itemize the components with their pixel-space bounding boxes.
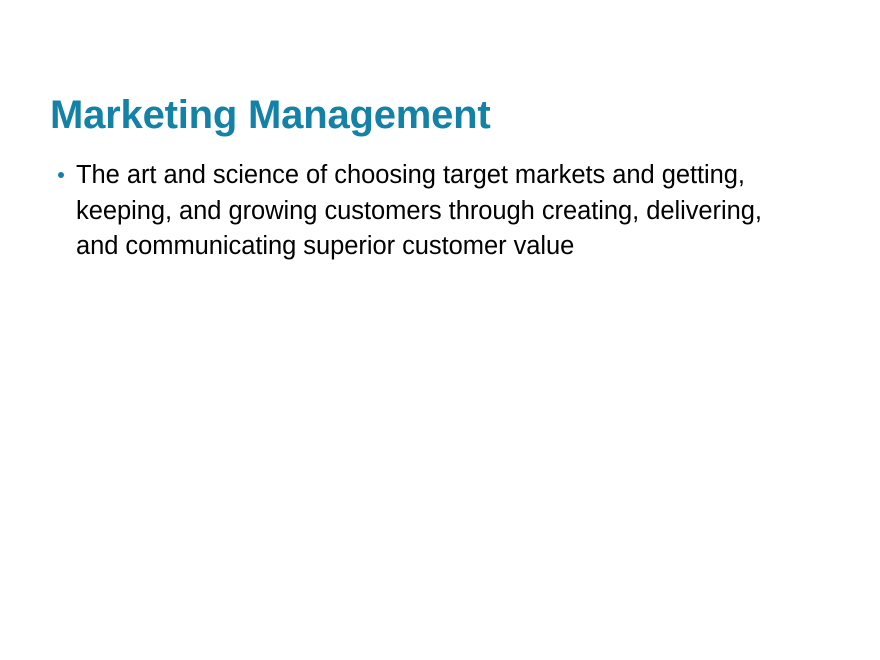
list-item-label: The art and science of choosing target m… [76, 161, 762, 260]
list-item: The art and science of choosing target m… [50, 158, 776, 265]
slide-canvas: Marketing Management The art and science… [0, 0, 880, 660]
page-title: Marketing Management [50, 93, 491, 138]
bullet-list: The art and science of choosing target m… [50, 158, 790, 265]
bullet-dot-icon [58, 172, 64, 178]
